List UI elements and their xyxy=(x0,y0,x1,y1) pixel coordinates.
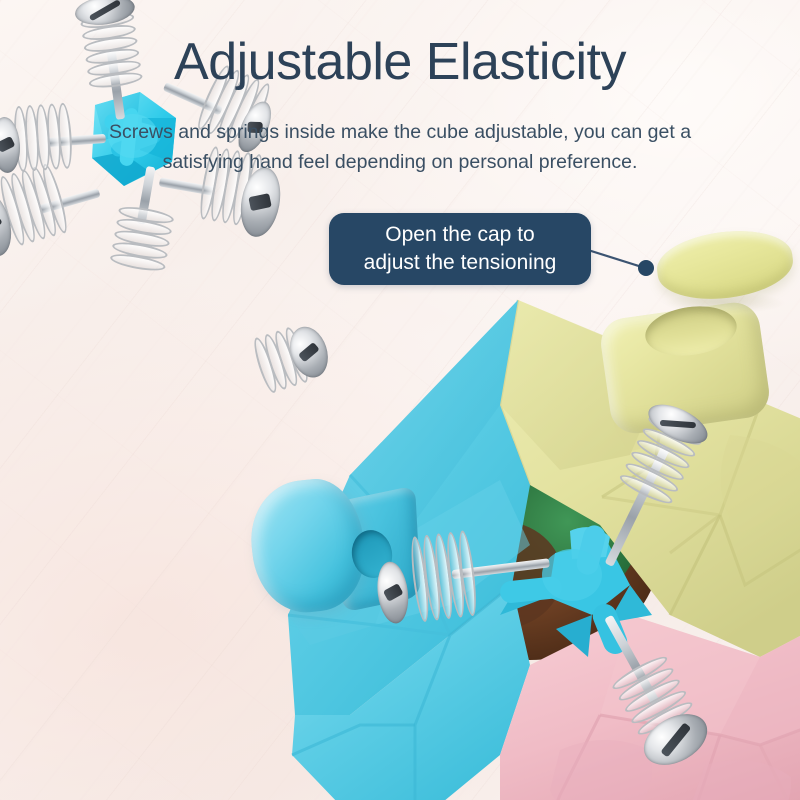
callout-line-1: Open the cap to xyxy=(385,221,534,249)
callout-tooltip: Open the cap to adjust the tensioning xyxy=(329,213,591,285)
leader-dot-icon xyxy=(638,260,654,276)
callout-line-2: adjust the tensioning xyxy=(364,249,557,277)
subtitle-line-1: Screws and springs inside make the cube … xyxy=(78,118,722,148)
page-subtitle: Screws and springs inside make the cube … xyxy=(78,118,722,177)
product-feature-banner: Adjustable Elasticity Screws and springs… xyxy=(0,0,800,800)
leader-line-icon xyxy=(588,248,668,278)
page-title: Adjustable Elasticity xyxy=(0,34,800,90)
subtitle-line-2: satisfying hand feel depending on person… xyxy=(78,148,722,178)
